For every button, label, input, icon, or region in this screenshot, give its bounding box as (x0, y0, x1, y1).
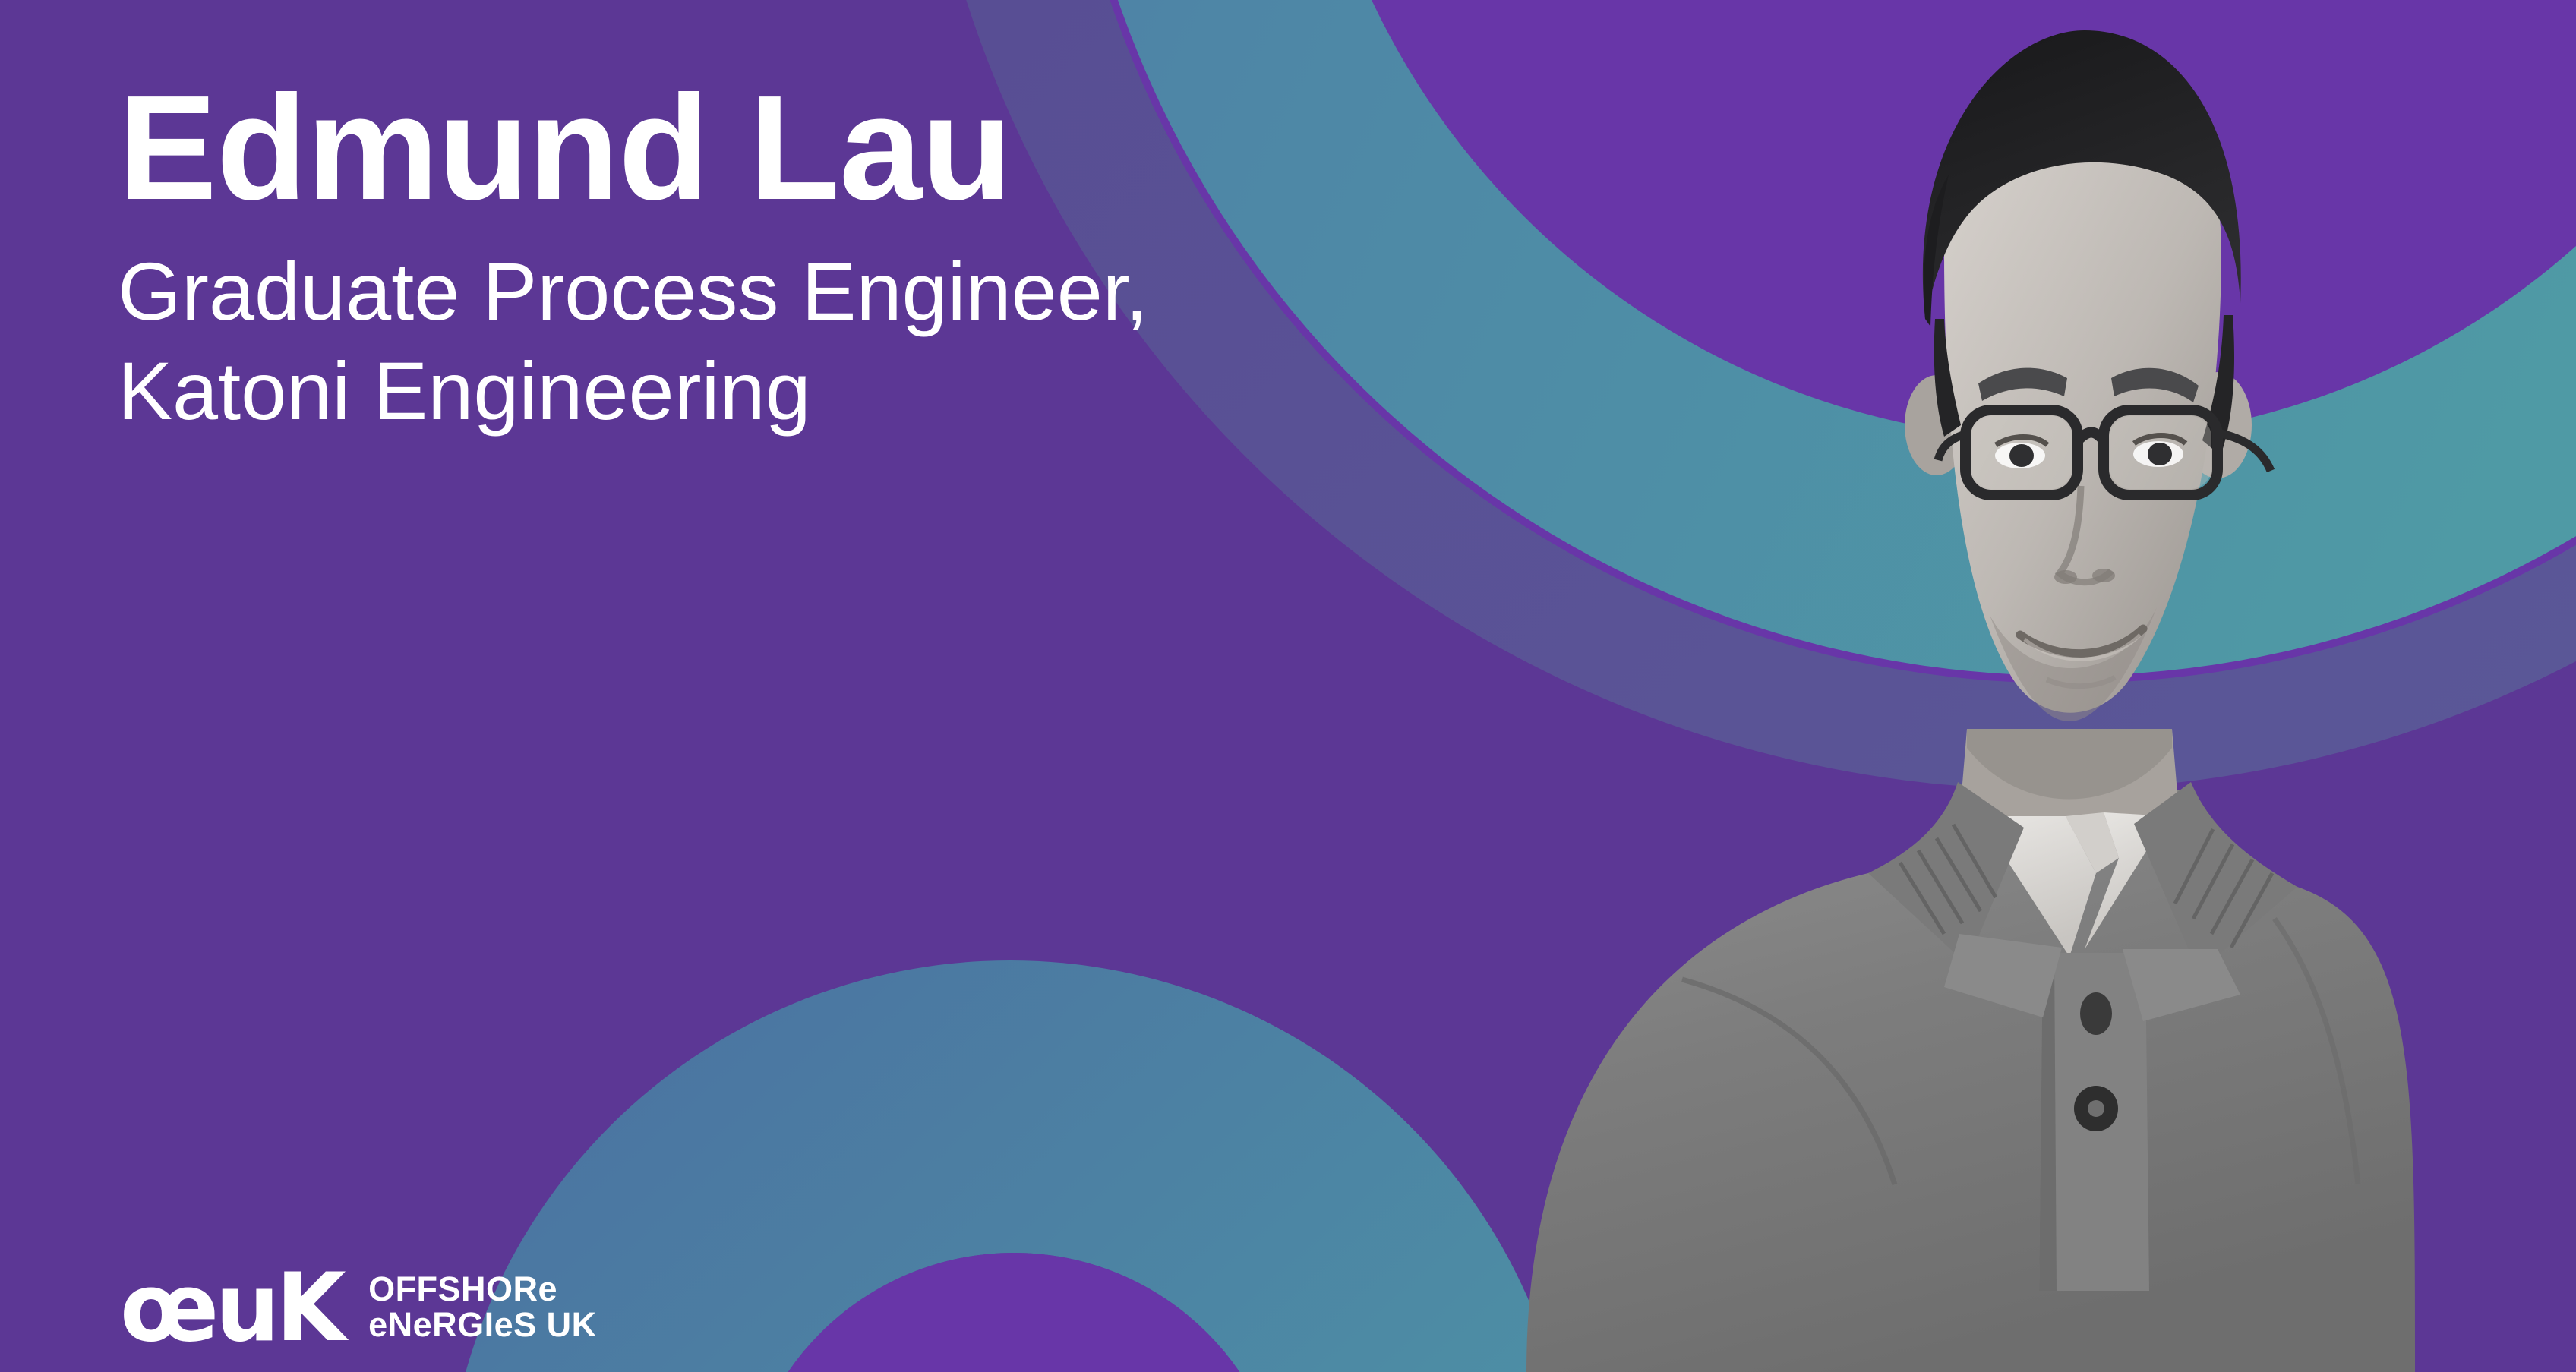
logo-line-energies-uk: eNeRGIeS UK (368, 1307, 597, 1343)
speaker-role: Graduate Process Engineer, Katoni Engine… (118, 242, 1561, 440)
speaker-role-line-2: Katoni Engineering (118, 342, 1561, 441)
logo-line-offshore: OFFSHORe (368, 1272, 597, 1307)
speaker-text-block: Edmund Lau Graduate Process Engineer, Ka… (118, 72, 1561, 440)
speaker-card: Edmund Lau Graduate Process Engineer, Ka… (0, 0, 2576, 1372)
oeuk-logo: œuK OFFSHORe eNeRGIeS UK (120, 1270, 597, 1348)
oeuk-wordmark-icon: œuK (120, 1270, 343, 1348)
speaker-role-line-1: Graduate Process Engineer, (118, 242, 1561, 342)
page-title: Edmund Lau (118, 72, 1561, 224)
oeuk-logo-text: OFFSHORe eNeRGIeS UK (368, 1272, 597, 1346)
